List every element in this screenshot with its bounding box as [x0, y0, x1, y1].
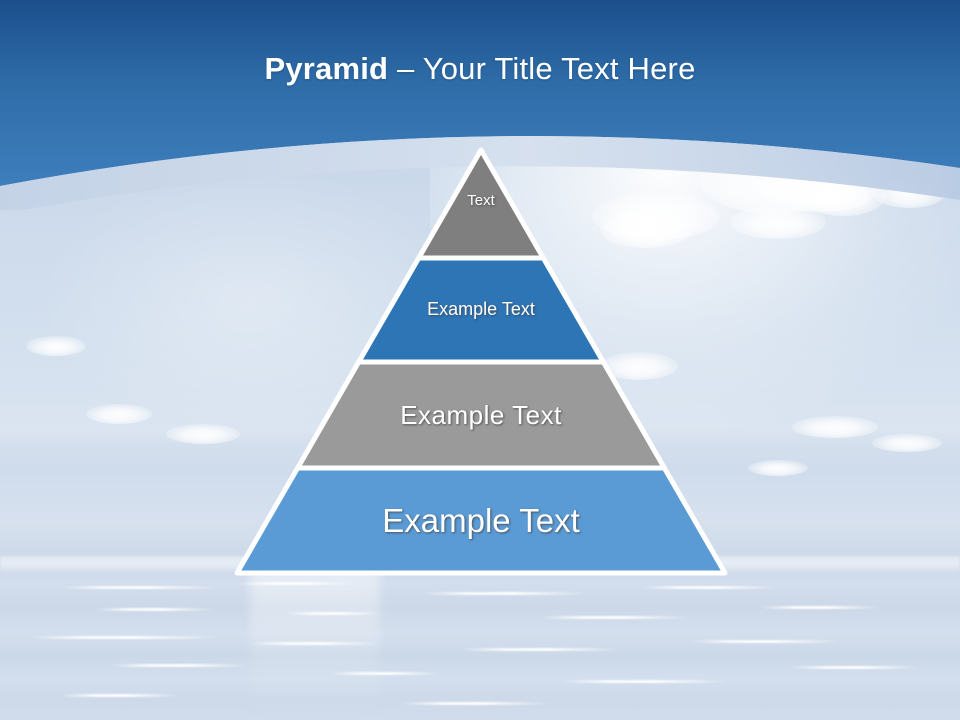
pyramid-tier-1[interactable] [419, 150, 544, 258]
pyramid-tier-3[interactable] [298, 362, 665, 468]
pyramid-tier-4-shape [237, 468, 725, 573]
pyramid-tier-2-shape [359, 258, 604, 362]
pyramid-tier-4[interactable] [237, 468, 725, 573]
presentation-slide: Pyramid – Your Title Text Here Text Exam… [0, 0, 960, 720]
pyramid-diagram[interactable] [0, 0, 960, 720]
pyramid-tier-1-shape [419, 150, 544, 258]
pyramid-tier-3-shape [298, 362, 665, 468]
pyramid-tier-2[interactable] [359, 258, 604, 362]
